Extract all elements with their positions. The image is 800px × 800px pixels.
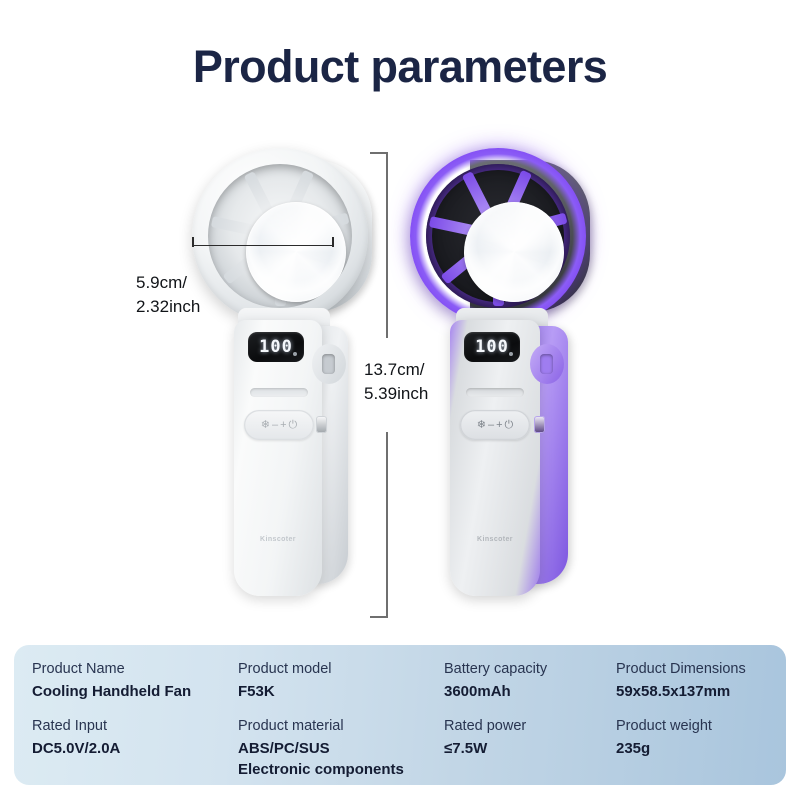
spec-key: Product Dimensions bbox=[616, 659, 800, 681]
snowflake-icon[interactable]: ❄ bbox=[477, 420, 486, 431]
spec-item: Product weight 235g bbox=[616, 716, 800, 780]
side-switch-purple[interactable] bbox=[534, 416, 545, 433]
snowflake-icon[interactable]: ❄ bbox=[261, 420, 270, 431]
spec-item: Rated power ≤7.5W bbox=[444, 716, 616, 780]
height-dimension-label: 13.7cm/ 5.39inch bbox=[364, 358, 428, 406]
spec-item: Battery capacity 3600mAh bbox=[444, 659, 616, 702]
spec-item: Product Dimensions 59x58.5x137mm bbox=[616, 659, 800, 702]
minus-icon[interactable]: – bbox=[272, 420, 278, 431]
fan-head-white bbox=[192, 148, 368, 324]
spec-item: Product material ABS/PC/SUS Electronic c… bbox=[238, 716, 444, 780]
display-indicator-dot-white bbox=[293, 352, 297, 356]
lanyard-hole-purple bbox=[540, 354, 553, 374]
spec-item: Product model F53K bbox=[238, 659, 444, 702]
brand-logo-white: Kinscoter bbox=[234, 536, 322, 543]
led-display-purple: 100 bbox=[464, 332, 520, 362]
spec-value: ≤7.5W bbox=[444, 738, 616, 759]
plus-icon[interactable]: + bbox=[280, 420, 286, 431]
height-dimension-line-top bbox=[386, 152, 388, 338]
spec-key: Battery capacity bbox=[444, 659, 616, 681]
product-purple-fan: 100 ❄ – + ⏻ Kinscoter bbox=[404, 148, 594, 668]
brand-logo-purple: Kinscoter bbox=[450, 536, 540, 543]
page-title: Product parameters bbox=[0, 41, 800, 93]
fan-grille-purple bbox=[426, 164, 570, 308]
control-button-panel-white[interactable]: ❄ – + ⏻ bbox=[244, 410, 314, 440]
minus-icon[interactable]: – bbox=[488, 420, 494, 431]
height-dimension-line-bottom bbox=[386, 432, 388, 618]
display-indicator-dot-purple bbox=[509, 352, 513, 356]
power-icon[interactable]: ⏻ bbox=[505, 420, 514, 431]
vent-slot-purple bbox=[466, 388, 524, 397]
spec-key: Product model bbox=[238, 659, 444, 681]
height-dimension-cap-bottom bbox=[370, 616, 387, 618]
spec-grid: Product Name Cooling Handheld Fan Produc… bbox=[32, 659, 776, 780]
width-dimension-label: 5.9cm/ 2.32inch bbox=[136, 271, 200, 319]
spec-panel: Product Name Cooling Handheld Fan Produc… bbox=[14, 645, 786, 785]
spec-value: 235g bbox=[616, 738, 800, 759]
spec-key: Rated power bbox=[444, 716, 616, 738]
vent-slot-white bbox=[250, 388, 308, 397]
spec-value: F53K bbox=[238, 681, 444, 702]
spec-key: Product Name bbox=[32, 659, 238, 681]
led-display-white: 100 bbox=[248, 332, 304, 362]
product-stage: 100 ❄ – + ⏻ Kinscoter bbox=[0, 120, 800, 640]
spec-value: ABS/PC/SUS Electronic components bbox=[238, 738, 444, 781]
spec-item: Rated Input DC5.0V/2.0A bbox=[32, 716, 238, 780]
spec-value: DC5.0V/2.0A bbox=[32, 738, 238, 759]
plus-icon[interactable]: + bbox=[496, 420, 502, 431]
spec-value: 59x58.5x137mm bbox=[616, 681, 800, 702]
side-switch-white[interactable] bbox=[316, 416, 327, 433]
spec-key: Product material bbox=[238, 716, 444, 738]
power-icon[interactable]: ⏻ bbox=[289, 420, 298, 431]
spec-value: Cooling Handheld Fan bbox=[32, 681, 238, 702]
battery-percent-white: 100 bbox=[259, 337, 293, 357]
battery-percent-purple: 100 bbox=[475, 337, 509, 357]
width-dimension-line bbox=[192, 245, 334, 246]
spec-key: Rated Input bbox=[32, 716, 238, 738]
lanyard-hole-white bbox=[322, 354, 335, 374]
product-white-fan: 100 ❄ – + ⏻ Kinscoter bbox=[186, 148, 376, 668]
height-dimension-cap-top bbox=[370, 152, 387, 154]
control-button-panel-purple[interactable]: ❄ – + ⏻ bbox=[460, 410, 530, 440]
spec-key: Product weight bbox=[616, 716, 800, 738]
spec-item: Product Name Cooling Handheld Fan bbox=[32, 659, 238, 702]
fan-hub-purple bbox=[464, 202, 564, 302]
spec-value: 3600mAh bbox=[444, 681, 616, 702]
fan-grille-white bbox=[208, 164, 352, 308]
fan-hub-white bbox=[246, 202, 346, 302]
fan-head-purple bbox=[410, 148, 586, 324]
